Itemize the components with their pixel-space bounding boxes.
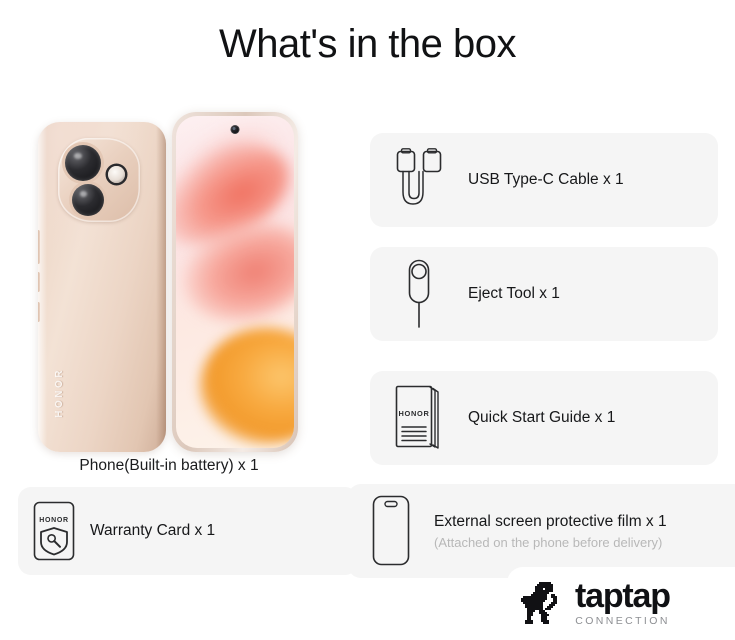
list-item-sublabel: (Attached on the phone before delivery) [434,535,667,550]
list-item-text: Quick Start Guide x 1 [468,408,615,427]
list-item-text: Warranty Card x 1 [90,521,215,540]
list-item-usb-cable[interactable]: USB Type-C Cable x 1 [370,133,718,227]
list-item-quick-start-guide[interactable]: HONOR Quick Start Guide x 1 [370,371,718,465]
svg-text:HONOR: HONOR [39,517,69,524]
camera-flash-icon [108,166,125,183]
list-item-warranty-card[interactable]: HONOR Warranty Card x 1 [18,487,358,575]
volume-up-button [38,272,40,292]
list-item-label: External screen protective film x 1 [434,512,667,531]
svg-text:HONOR: HONOR [398,409,429,418]
phone-brand-label: HONOR [54,368,65,418]
volume-down-button [38,302,40,322]
camera-module [58,138,140,222]
list-item-label: Eject Tool x 1 [468,284,560,303]
front-camera-icon [231,125,240,134]
usb-type-c-cable-icon [370,148,468,212]
watermark-brand: taptap [575,580,670,612]
watermark-badge: taptap CONNECTION [507,567,735,640]
watermark-tagline: CONNECTION [575,615,670,627]
pixel-dinosaur-icon [517,580,569,628]
product-image-group: HONOR Phone(Built-in battery) x 1 [24,112,314,467]
list-item-label: Warranty Card x 1 [90,521,215,540]
camera-lens-secondary-icon [72,184,104,216]
list-item-text: External screen protective film x 1 (Att… [434,512,667,550]
list-item-eject-tool[interactable]: Eject Tool x 1 [370,247,718,341]
list-item-label: USB Type-C Cable x 1 [468,170,624,189]
warranty-card-shield-wrench-icon: HONOR [18,500,90,562]
phone-screen [176,116,294,448]
wallpaper-blob-orange [200,328,294,444]
sim-eject-tool-icon [370,258,468,330]
phone-front-view [172,112,298,452]
camera-lens-main-icon [65,145,101,181]
power-button [38,230,40,264]
quick-start-guide-booklet-icon: HONOR [370,383,468,453]
page-title: What's in the box [0,22,735,67]
list-item-text: Eject Tool x 1 [468,284,560,303]
watermark-text: taptap CONNECTION [575,580,670,627]
phone-outline-icon [348,494,434,568]
list-item-screen-protective-film[interactable]: External screen protective film x 1 (Att… [348,484,735,578]
list-item-label: Quick Start Guide x 1 [468,408,615,427]
phone-rear-view: HONOR [38,122,166,452]
product-caption: Phone(Built-in battery) x 1 [24,457,314,475]
list-item-text: USB Type-C Cable x 1 [468,170,624,189]
phone-right-edge-shadow [156,122,166,452]
